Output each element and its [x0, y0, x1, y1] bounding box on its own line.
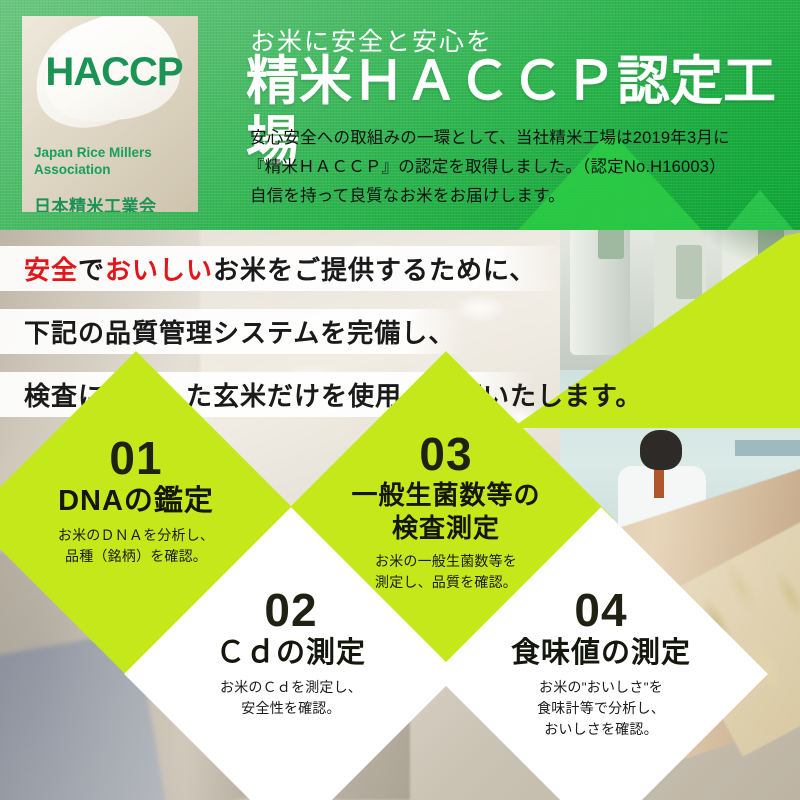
step-desc-04-line3: おいしさを確認。 — [451, 719, 751, 740]
headline-accent-delicious: おいしい — [105, 250, 213, 287]
haccp-certification-banner: HACCP Japan Rice Millers Association 日本精… — [0, 0, 800, 800]
step-number-01: 01 — [0, 434, 286, 482]
step-title-02: Ｃｄの測定 — [141, 636, 441, 670]
step-desc-04-line1: お米の"おいしさ"を — [451, 677, 751, 698]
step-number-04: 04 — [451, 586, 751, 634]
headline-line-1: 安全でおいしいお米をご提供するために、 — [0, 246, 564, 291]
header-banner: HACCP Japan Rice Millers Association 日本精… — [0, 0, 800, 230]
header-description-line3: 自信を持って良質なお米をお届けします。 — [250, 182, 795, 211]
step-desc-02-line2: 安全性を確認。 — [141, 698, 441, 719]
step-desc-03-line1: お米の一般生菌数等を — [296, 551, 596, 572]
step-description-02: お米のＣｄを測定し、 安全性を確認。 — [141, 677, 441, 719]
step-title-01: DNAの鑑定 — [0, 484, 286, 518]
step-number-03: 03 — [296, 430, 596, 478]
step-desc-01-line2: 品種（銘柄）を確認。 — [0, 546, 286, 567]
step-desc-02-line1: お米のＣｄを測定し、 — [141, 677, 441, 698]
step-title-03-line1: 一般生菌数等の — [296, 480, 596, 511]
photo-lab-technician-tie — [654, 468, 664, 498]
headline-line1-rest: お米をご提供するために、 — [213, 250, 536, 287]
logo-english-line1: Japan Rice Millers — [34, 144, 194, 161]
step-desc-01-line1: お米のＤＮＡを分析し、 — [0, 525, 286, 546]
logo-association-japanese: 日本精米工業会 — [34, 192, 194, 212]
haccp-logo-text: HACCP — [30, 50, 198, 95]
headline-line-2: 下記の品質管理システムを完備し、 — [0, 309, 464, 354]
header-description: 安心安全への取組みの一環として、当社精米工場は2019年3月に 『精米ＨＡＣＣＰ… — [250, 124, 795, 211]
step-desc-04-line2: 食味計等で分析し、 — [451, 698, 751, 719]
step-description-01: お米のＤＮＡを分析し、 品種（銘柄）を確認。 — [0, 525, 286, 567]
header-description-line2: 『精米ＨＡＣＣＰ』の認定を取得しました。（認定No.H16003） — [250, 153, 795, 182]
haccp-logo: HACCP Japan Rice Millers Association 日本精… — [22, 16, 198, 212]
step-item-04: 04 食味値の測定 お米の"おいしさ"を 食味計等で分析し、 おいしさを確認。 — [451, 586, 751, 740]
step-description-04: お米の"おいしさ"を 食味計等で分析し、 おいしさを確認。 — [451, 677, 751, 740]
step-title-03-line2: 検査測定 — [296, 513, 596, 544]
photo-lab-technician-head — [640, 430, 682, 470]
step-number-02: 02 — [141, 586, 441, 634]
step-title-04: 食味値の測定 — [451, 636, 751, 670]
logo-english-line2: Association — [34, 161, 194, 178]
step-item-02: 02 Ｃｄの測定 お米のＣｄを測定し、 安全性を確認。 — [141, 586, 441, 719]
headline-line1-mid: で — [78, 250, 105, 287]
header-description-line1: 安心安全への取組みの一環として、当社精米工場は2019年3月に — [250, 124, 795, 153]
step-item-03: 03 一般生菌数等の 検査測定 お米の一般生菌数等を 測定し、品質を確認。 — [296, 430, 596, 593]
logo-association-english: Japan Rice Millers Association — [34, 144, 194, 178]
step-item-01: 01 DNAの鑑定 お米のＤＮＡを分析し、 品種（銘柄）を確認。 — [0, 434, 286, 567]
headline-accent-safe: 安全 — [24, 250, 78, 287]
